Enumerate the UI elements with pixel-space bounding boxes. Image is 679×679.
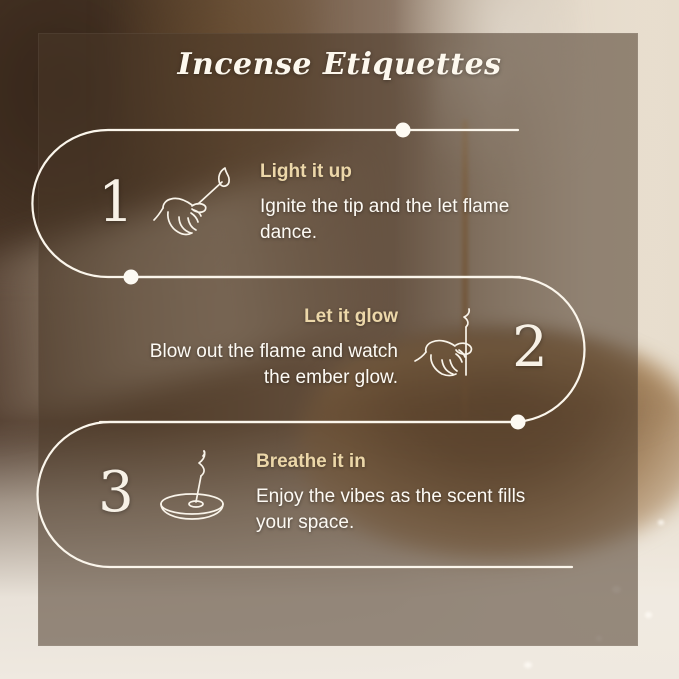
hand-holding-smoking-incense-stick-icon xyxy=(404,305,500,391)
step-item-1: 1 Light it up Ignite the xyxy=(86,160,526,246)
step-heading-3: Breathe it in xyxy=(256,451,536,473)
step-number-2: 2 xyxy=(500,320,560,376)
poster-canvas: Incense Etiquettes 1 xyxy=(0,0,679,679)
step-body-1: Ignite the tip and the let flame dance. xyxy=(260,194,526,245)
step-text-1: Light it up Ignite the tip and the let f… xyxy=(242,161,526,245)
page-title: Incense Etiquettes xyxy=(0,47,679,82)
step-heading-1: Light it up xyxy=(260,161,526,183)
background-speck xyxy=(524,662,532,668)
background-speck xyxy=(645,612,652,618)
hand-holding-lit-match-icon xyxy=(146,160,242,246)
step-heading-2: Let it glow xyxy=(140,306,398,328)
step-item-2: Let it glow Blow out the flame and watch… xyxy=(140,305,560,391)
step-body-2: Blow out the flame and watch the ember g… xyxy=(140,339,398,390)
background-speck xyxy=(658,520,664,525)
step-text-2: Let it glow Blow out the flame and watch… xyxy=(140,306,404,390)
step-item-3: 3 Breathe it in Enjoy the vibes as the s… xyxy=(86,450,536,536)
incense-holder-dish-with-smoke-icon xyxy=(146,450,242,536)
step-number-1: 1 xyxy=(86,175,146,231)
step-body-3: Enjoy the vibes as the scent fills your … xyxy=(256,484,536,535)
step-text-3: Breathe it in Enjoy the vibes as the sce… xyxy=(242,451,536,535)
step-number-3: 3 xyxy=(86,465,146,521)
